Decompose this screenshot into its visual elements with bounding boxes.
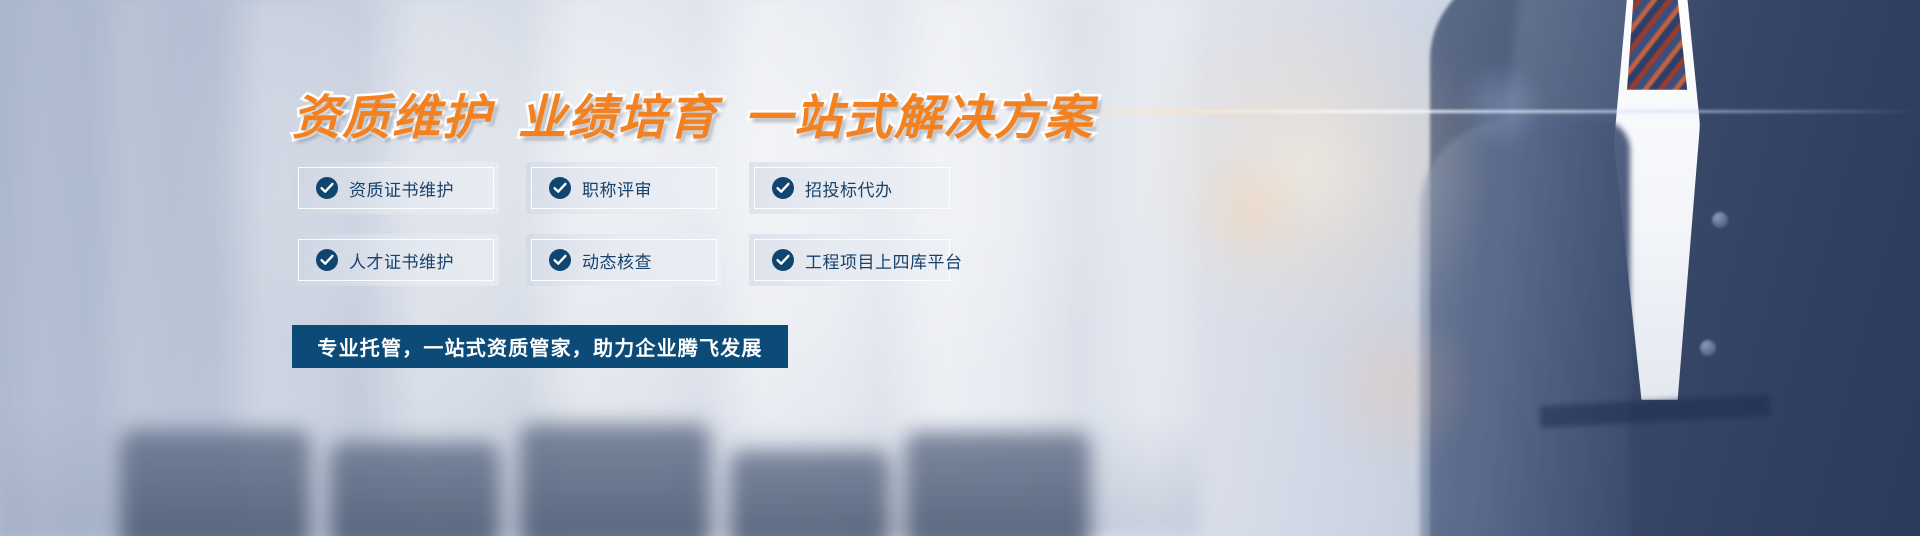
banner-headline: 资质维护业绩培育一站式解决方案 [292, 78, 1094, 148]
feature-label: 职称评审 [582, 176, 652, 201]
feature-item-dynamic-verification[interactable]: 动态核查 [526, 234, 722, 286]
feature-label: 动态核查 [582, 248, 652, 273]
feature-label: 资质证书维护 [349, 176, 454, 201]
feature-label: 招投标代办 [805, 176, 893, 201]
feature-item-talent-certificate-maintenance[interactable]: 人才证书维护 [293, 234, 499, 286]
tagline-text: 专业托管，一站式资质管家，助力企业腾飞发展 [317, 332, 762, 361]
banner-content: 资质维护业绩培育一站式解决方案 资质证书维护 [0, 0, 1920, 536]
feature-row: 人才证书维护 动态核查 [293, 234, 993, 286]
feature-item-project-four-database-platform[interactable]: 工程项目上四库平台 [749, 234, 955, 286]
check-circle-icon [316, 177, 338, 199]
feature-label: 工程项目上四库平台 [805, 248, 963, 273]
feature-label: 人才证书维护 [349, 248, 454, 273]
check-circle-icon [316, 249, 338, 271]
check-circle-icon [772, 249, 794, 271]
check-circle-icon [772, 177, 794, 199]
headline-part-1: 资质维护 [292, 92, 492, 145]
check-circle-icon [549, 177, 571, 199]
tagline-bar: 专业托管，一站式资质管家，助力企业腾飞发展 [292, 325, 788, 368]
headline-part-3: 一站式解决方案 [744, 92, 1094, 145]
hero-banner: 资质维护业绩培育一站式解决方案 资质证书维护 [0, 0, 1920, 536]
headline-part-2: 业绩培育 [518, 92, 718, 145]
feature-row: 资质证书维护 职称评审 [293, 162, 993, 214]
check-circle-icon [549, 249, 571, 271]
feature-item-title-evaluation[interactable]: 职称评审 [526, 162, 722, 214]
feature-item-bidding-agency[interactable]: 招投标代办 [749, 162, 955, 214]
feature-item-qualification-certificate-maintenance[interactable]: 资质证书维护 [293, 162, 499, 214]
feature-grid: 资质证书维护 职称评审 [293, 162, 993, 306]
